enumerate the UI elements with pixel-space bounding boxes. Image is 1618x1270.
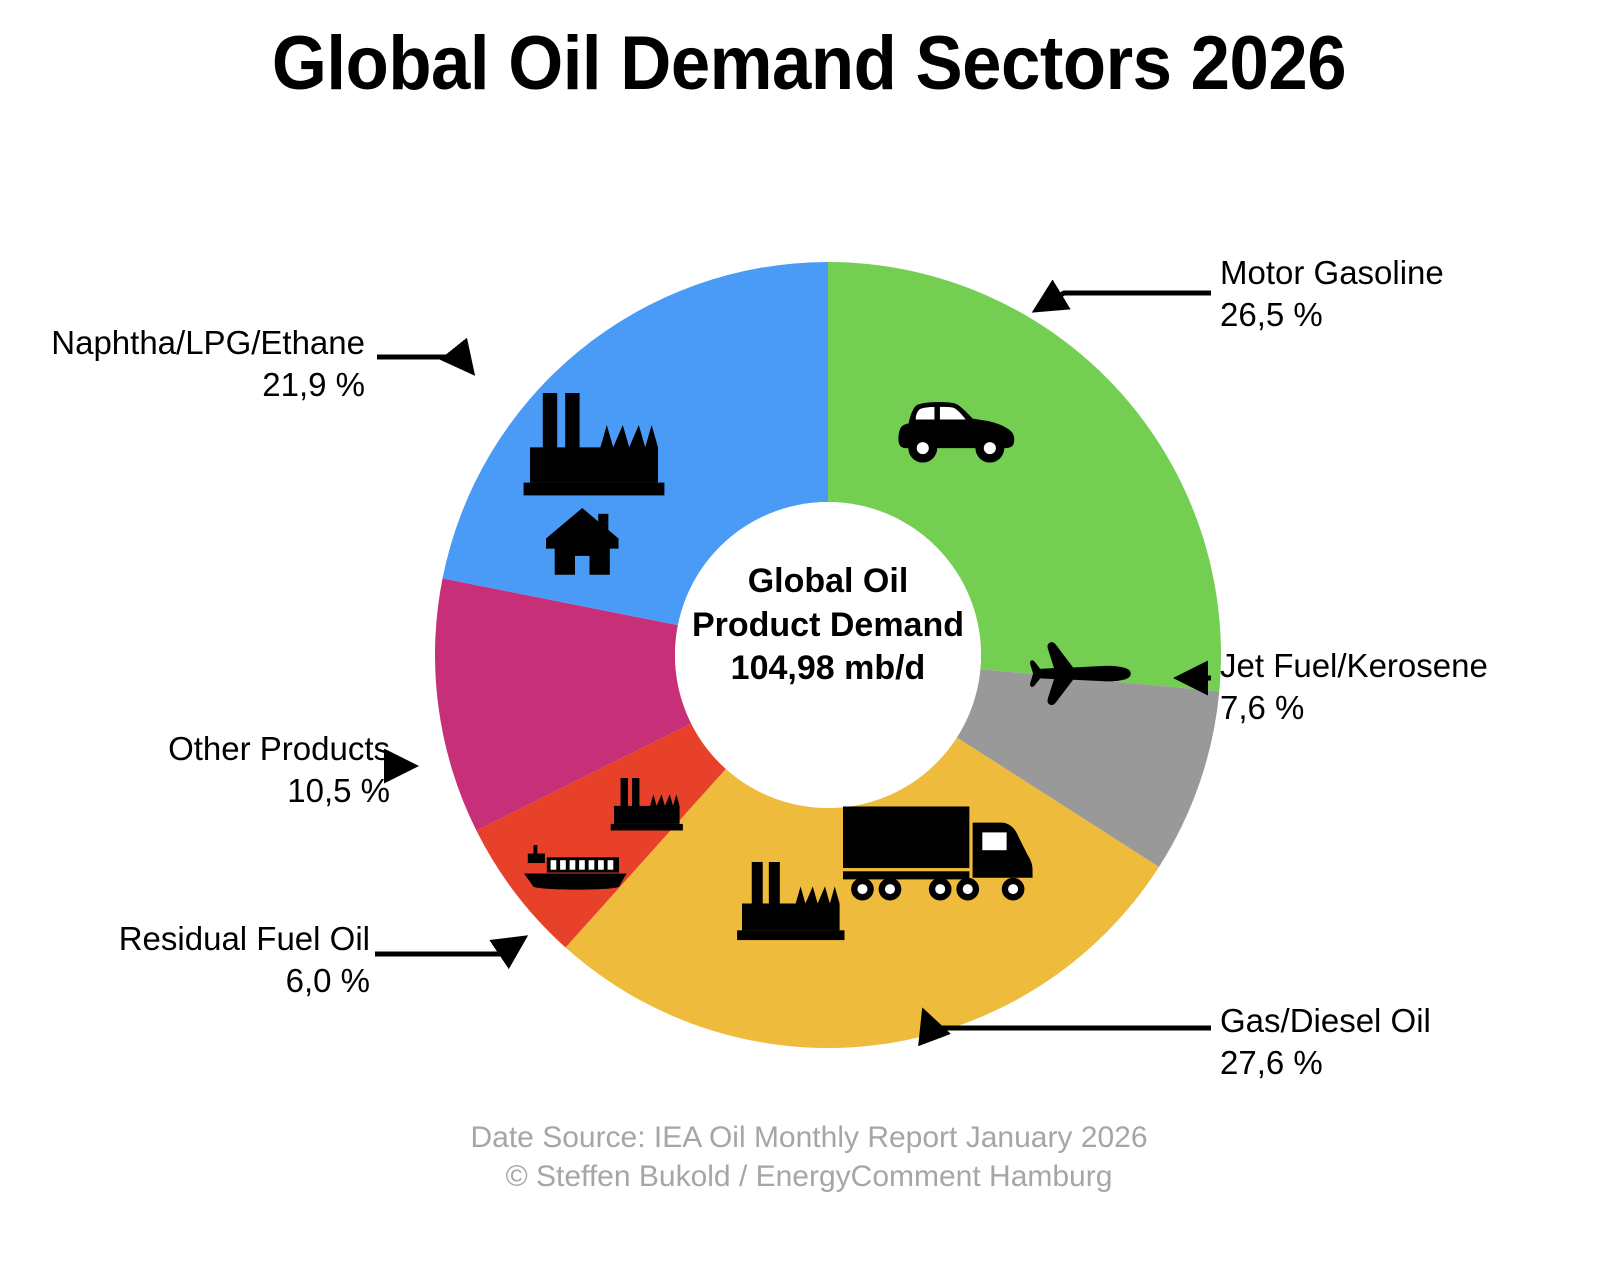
footer-source-line: Date Source: IEA Oil Monthly Report Janu… [0, 1118, 1618, 1157]
callout-motor-gasoline-label: Motor Gasoline [1220, 252, 1444, 294]
donut-center-hole [675, 502, 981, 808]
callout-gas-diesel: Gas/Diesel Oil 27,6 % [1220, 1000, 1431, 1083]
leader-motor-gasoline [1036, 293, 1211, 310]
callout-gas-diesel-percent: 27,6 % [1220, 1042, 1431, 1084]
callout-naphtha-label: Naphtha/LPG/Ethane [51, 322, 365, 364]
callout-other-products-percent: 10,5 % [168, 770, 390, 812]
callout-jet-fuel-label: Jet Fuel/Kerosene [1220, 645, 1488, 687]
leader-naphtha [377, 357, 472, 372]
callout-gas-diesel-label: Gas/Diesel Oil [1220, 1000, 1431, 1042]
callout-residual-fuel-oil: Residual Fuel Oil 6,0 % [119, 918, 370, 1001]
callout-motor-gasoline: Motor Gasoline 26,5 % [1220, 252, 1444, 335]
callout-naphtha-lpg-ethane: Naphtha/LPG/Ethane 21,9 % [51, 322, 365, 405]
callout-jet-fuel: Jet Fuel/Kerosene 7,6 % [1220, 645, 1488, 728]
callout-other-products: Other Products 10,5 % [168, 728, 390, 811]
callout-naphtha-percent: 21,9 % [51, 364, 365, 406]
callout-residual-percent: 6,0 % [119, 960, 370, 1002]
leader-residual-fuel [375, 938, 524, 954]
footer-copyright-line: © Steffen Bukold / EnergyComment Hamburg [0, 1157, 1618, 1196]
source-footer: Date Source: IEA Oil Monthly Report Janu… [0, 1118, 1618, 1196]
callout-motor-gasoline-percent: 26,5 % [1220, 294, 1444, 336]
callout-residual-label: Residual Fuel Oil [119, 918, 370, 960]
callout-jet-fuel-percent: 7,6 % [1220, 687, 1488, 729]
callout-other-products-label: Other Products [168, 728, 390, 770]
chart-canvas: Global Oil Demand Sectors 2026 [0, 0, 1618, 1270]
